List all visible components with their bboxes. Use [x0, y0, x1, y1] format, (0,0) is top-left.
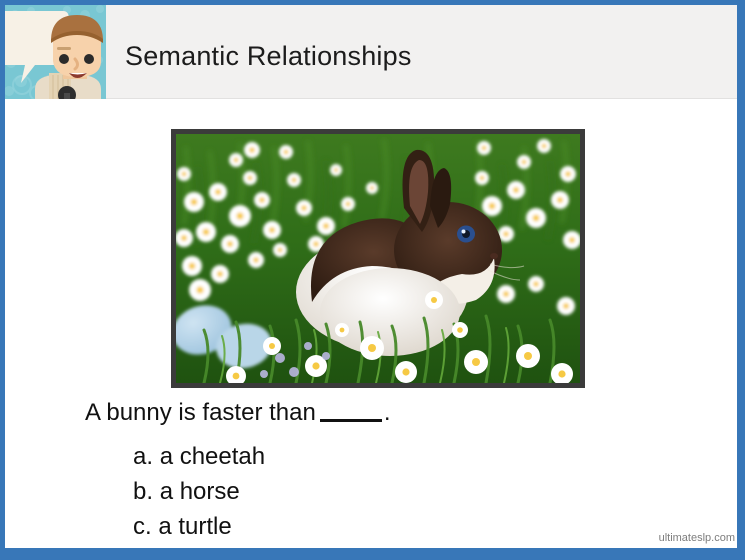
option-c-label: a turtle	[158, 513, 231, 540]
question-suffix: .	[384, 399, 391, 426]
answer-options: a. a cheetah b. a horse c. a turtle	[133, 439, 265, 544]
slide: Semantic Relationships	[0, 0, 745, 560]
slide-content: Semantic Relationships	[5, 5, 737, 548]
bunny-photo	[176, 134, 580, 383]
option-b-label: a horse	[160, 478, 240, 505]
option-b[interactable]: b. a horse	[133, 474, 265, 509]
option-a-label: a cheetah	[160, 443, 265, 470]
question-prefix: A bunny is faster than	[85, 399, 316, 426]
option-c-letter: c.	[133, 513, 152, 540]
page-title: Semantic Relationships	[125, 41, 412, 72]
option-a[interactable]: a. a cheetah	[133, 439, 265, 474]
bunny-photo-frame	[171, 129, 585, 388]
question-text: A bunny is faster than.	[85, 399, 390, 427]
option-c[interactable]: c. a turtle	[133, 509, 265, 544]
slide-header: Semantic Relationships	[5, 5, 737, 99]
avatar-illustration-icon	[5, 5, 106, 99]
option-a-letter: a.	[133, 443, 153, 470]
bunny-in-grass-image	[176, 134, 580, 383]
avatar	[5, 5, 106, 99]
option-b-letter: b.	[133, 478, 153, 505]
answer-blank	[320, 403, 382, 422]
watermark: ultimateslp.com	[659, 532, 735, 544]
